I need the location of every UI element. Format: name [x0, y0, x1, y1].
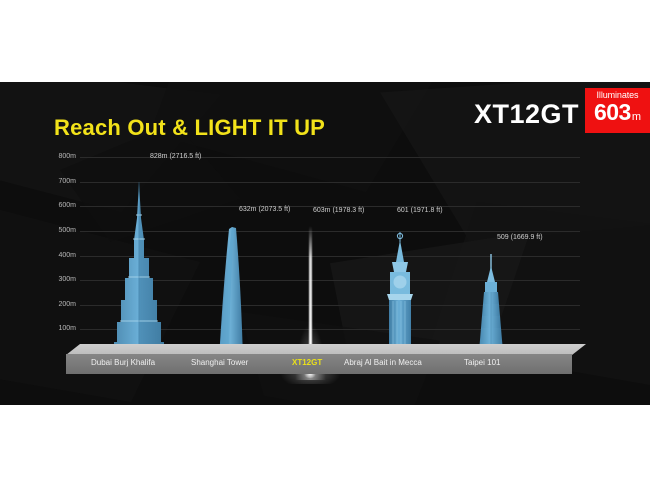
category-label-xt12gt: XT12GT: [292, 358, 322, 367]
annotation-xt12gt: 603m (1978.3 ft): [313, 207, 364, 214]
infographic-canvas: Reach Out & LIGHT IT UP XT12GT Illuminat…: [0, 0, 650, 487]
y-axis-tick-label: 800m: [48, 153, 76, 160]
annotation-burj-khalifa: 828m (2716.5 ft): [150, 153, 201, 160]
category-labels: Dubai Burj Khalifa Shanghai Tower XT12GT…: [66, 354, 572, 374]
category-label-shanghai-tower: Shanghai Tower: [191, 358, 248, 367]
category-label-burj-khalifa: Dubai Burj Khalifa: [91, 358, 155, 367]
chart-platform: Dubai Burj Khalifa Shanghai Tower XT12GT…: [66, 344, 586, 374]
annotation-shanghai-tower: 632m (2073.5 ft): [239, 206, 290, 213]
category-label-abraj-al-bait: Abraj Al Bait in Mecca: [344, 358, 422, 367]
height-comparison-chart: 800m700m600m500m400m300m200m100m 828m (2…: [0, 82, 650, 405]
annotation-taipei-101: 509 (1669.9 ft): [497, 234, 543, 241]
annotation-abraj-al-bait: 601 (1971.8 ft): [397, 207, 443, 214]
category-label-taipei-101: Taipei 101: [464, 358, 500, 367]
y-axis-tick-label: 700m: [48, 178, 76, 185]
y-axis-tick-label: 600m: [48, 202, 76, 209]
